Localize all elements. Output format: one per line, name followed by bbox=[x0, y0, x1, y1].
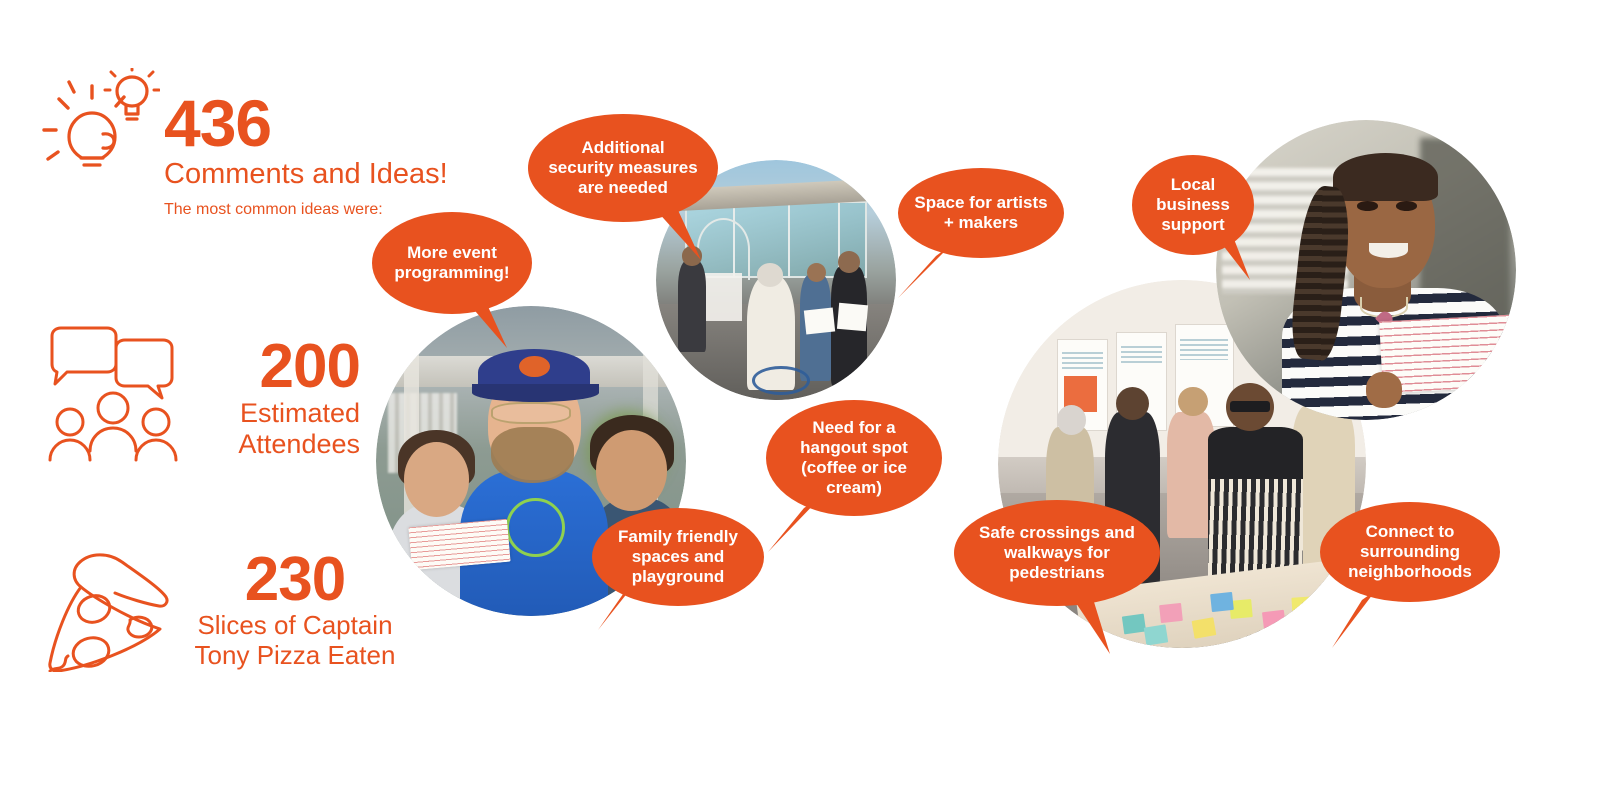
stat-label-attendees-line2: Attendees bbox=[200, 429, 360, 460]
bubble-hangout-spot[interactable]: Need for a hangout spot (coffee or ice c… bbox=[766, 400, 942, 516]
pizza-slice-icon bbox=[34, 542, 179, 677]
bubble-text: More event programming! bbox=[394, 243, 509, 283]
stat-number-pizza: 230 bbox=[185, 549, 405, 611]
bubble-additional-security[interactable]: Additional security measures are needed bbox=[528, 114, 718, 222]
lightbulb-idea-icon bbox=[40, 68, 160, 183]
bubble-connect-neighborhoods[interactable]: Connect to surrounding neighborhoods bbox=[1320, 502, 1500, 602]
stat-label-comments: Comments and Ideas! bbox=[164, 158, 448, 191]
bubble-text: Space for artists + makers bbox=[914, 193, 1047, 233]
bubble-text: Safe crossings and walkways for pedestri… bbox=[979, 523, 1135, 583]
bubble-more-event-programming[interactable]: More event programming! bbox=[372, 212, 532, 314]
stat-label-pizza-line2: Tony Pizza Eaten bbox=[185, 641, 405, 671]
stat-label-attendees-line1: Estimated bbox=[200, 398, 360, 429]
bubble-text: Connect to surrounding neighborhoods bbox=[1348, 522, 1472, 582]
family-photo-alt: Man wearing a blue cap and blue t-shirt … bbox=[0, 0, 1, 1]
bubble-text: Additional security measures are needed bbox=[548, 138, 697, 198]
bubble-family-friendly[interactable]: Family friendly spaces and playground bbox=[592, 508, 764, 606]
stat-text-pizza: 230 Slices of Captain Tony Pizza Eaten bbox=[185, 549, 405, 670]
bubble-text: Local business support bbox=[1156, 175, 1230, 235]
stat-text-attendees: 200 Estimated Attendees bbox=[200, 336, 360, 460]
stat-block-attendees: 200 Estimated Attendees bbox=[38, 318, 360, 478]
stat-subtitle-common-ideas: The most common ideas were: bbox=[164, 200, 448, 219]
bubble-local-business-support[interactable]: Local business support bbox=[1132, 155, 1254, 255]
stat-number-comments: 436 bbox=[164, 90, 448, 156]
bubble-text: Family friendly spaces and playground bbox=[618, 527, 738, 587]
stat-block-comments: 436 Comments and Ideas! The most common … bbox=[40, 68, 448, 219]
stat-label-pizza-line1: Slices of Captain bbox=[185, 611, 405, 641]
stat-text-comments: 436 Comments and Ideas! The most common … bbox=[164, 90, 448, 219]
bubble-safe-crossings[interactable]: Safe crossings and walkways for pedestri… bbox=[954, 500, 1160, 606]
stat-number-attendees: 200 bbox=[200, 336, 360, 398]
speech-bubbles-people-icon bbox=[38, 318, 188, 478]
infographic-canvas: 436 Comments and Ideas! The most common … bbox=[0, 0, 1600, 800]
bubble-space-for-artists[interactable]: Space for artists + makers bbox=[898, 168, 1064, 258]
bubble-text: Need for a hangout spot (coffee or ice c… bbox=[800, 418, 908, 498]
stat-block-pizza: 230 Slices of Captain Tony Pizza Eaten bbox=[34, 542, 405, 677]
photo-descriptions: Man wearing a blue cap and blue t-shirt … bbox=[0, 0, 1, 1]
